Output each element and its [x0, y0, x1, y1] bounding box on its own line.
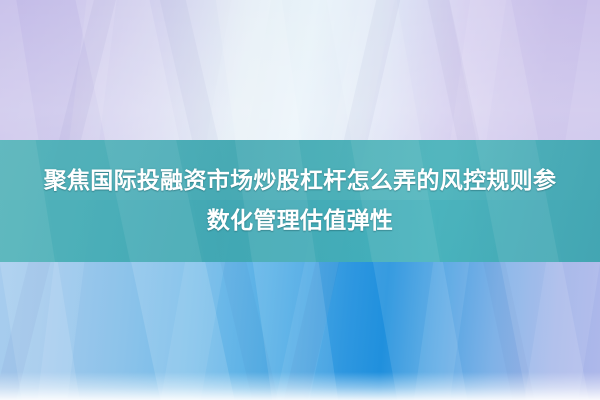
banner-image: 聚焦国际投融资市场炒股杠杆怎么弄的风控规则参 数化管理估值弹性 [0, 0, 600, 400]
headline-line-2: 数化管理估值弹性 [207, 201, 393, 241]
bottom-fade-strip [0, 372, 600, 400]
headline-text-block: 聚焦国际投融资市场炒股杠杆怎么弄的风控规则参 数化管理估值弹性 [0, 140, 600, 262]
headline-line-1: 聚焦国际投融资市场炒股杠杆怎么弄的风控规则参 [44, 161, 557, 201]
